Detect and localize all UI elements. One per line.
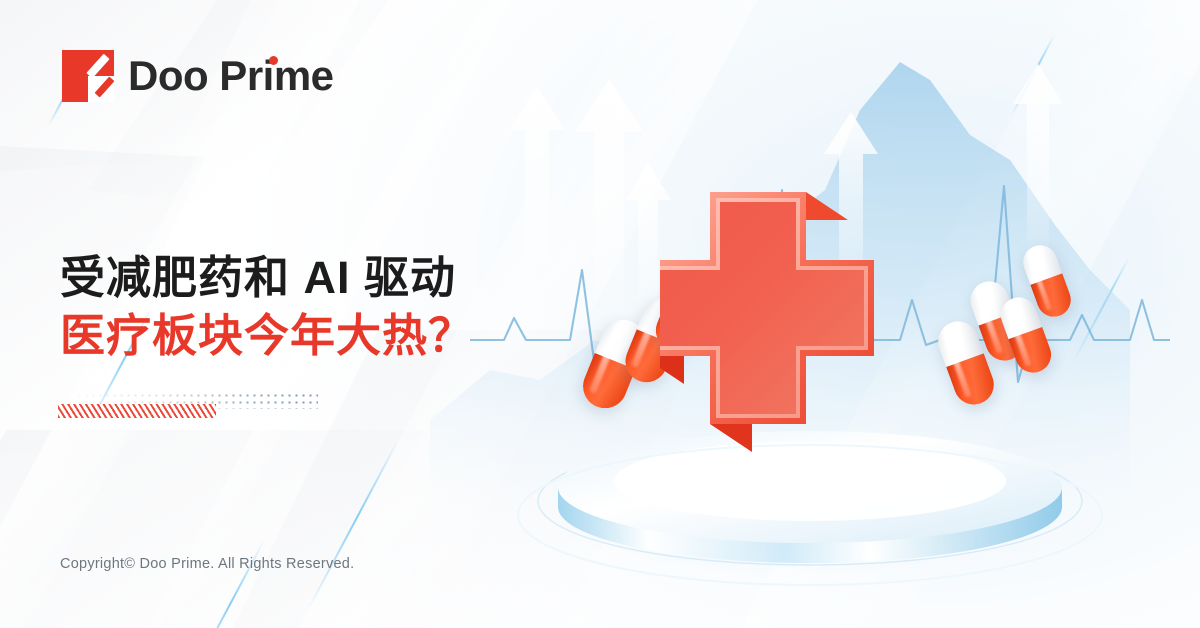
headline: 受减肥药和 AI 驱动 医疗板块今年大热？ xyxy=(60,249,620,364)
doo-prime-logo-mark-icon xyxy=(62,50,114,102)
geometric-facet xyxy=(0,430,426,628)
cyan-accent-line xyxy=(1011,35,1055,115)
medical-cross-3d xyxy=(660,180,990,470)
brand-name: Doo Prime xyxy=(128,52,334,100)
decorative-pattern xyxy=(58,392,318,418)
up-arrow-icon xyxy=(1010,60,1066,250)
logo-slash-white xyxy=(86,54,109,79)
promotional-banner: Doo Prime 受减肥药和 AI 驱动 医疗板块今年大热？ Copyrigh… xyxy=(0,0,1200,628)
cyan-accent-line xyxy=(1072,257,1130,364)
geometric-facet xyxy=(87,0,422,208)
diagonal-hatch-pattern xyxy=(58,404,216,418)
brand-logo[interactable]: Doo Prime xyxy=(62,50,334,102)
headline-line-1: 受减肥药和 AI 驱动 xyxy=(60,249,620,307)
copyright-text: Copyright© Doo Prime. All Rights Reserve… xyxy=(60,556,354,572)
cyan-accent-line xyxy=(189,539,266,628)
cyan-accent-line xyxy=(308,441,399,610)
logo-dot-accent xyxy=(269,56,278,65)
headline-line-2: 医疗板块今年大热？ xyxy=(60,307,620,365)
